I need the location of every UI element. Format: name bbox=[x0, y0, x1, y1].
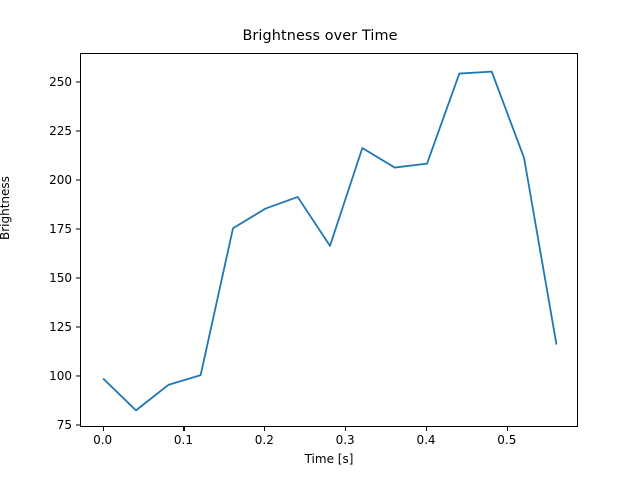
y-tick-label: 150 bbox=[0, 271, 72, 285]
y-tick-label: 175 bbox=[0, 222, 72, 236]
line-series-brightness bbox=[81, 54, 579, 428]
y-tick-label: 125 bbox=[0, 320, 72, 334]
x-axis-label: Time [s] bbox=[80, 452, 578, 466]
x-tick-label: 0.2 bbox=[234, 433, 294, 447]
x-tick-label: 0.3 bbox=[315, 433, 375, 447]
x-tick-label: 0.1 bbox=[153, 433, 213, 447]
x-tick-label: 0.0 bbox=[73, 433, 133, 447]
y-tick-label: 75 bbox=[0, 418, 72, 432]
page-title: Brightness over Time bbox=[0, 28, 640, 44]
y-tick-label: 100 bbox=[0, 369, 72, 383]
plot-area bbox=[80, 53, 578, 427]
x-tick-label: 0.4 bbox=[396, 433, 456, 447]
x-tick-label: 0.5 bbox=[477, 433, 537, 447]
y-tick-label: 250 bbox=[0, 75, 72, 89]
brightness-line bbox=[104, 72, 557, 411]
y-tick-label: 225 bbox=[0, 124, 72, 138]
y-tick-label: 200 bbox=[0, 173, 72, 187]
matplotlib-figure: Brightness over Time Brightness Time [s]… bbox=[0, 0, 640, 480]
